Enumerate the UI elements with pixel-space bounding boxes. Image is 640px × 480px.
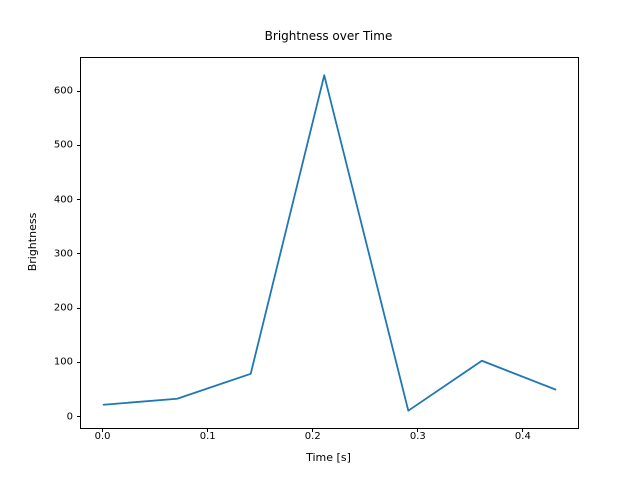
y-tick-mark: [77, 145, 81, 146]
y-tick-label: 0: [40, 411, 73, 422]
plot-axes-frame: [80, 57, 579, 429]
line-series-brightness: [104, 75, 556, 410]
x-tick-label: 0.3: [410, 431, 426, 442]
y-tick-label: 600: [40, 86, 73, 97]
y-tick-label: 500: [40, 140, 73, 151]
chart-title: Brightness over Time: [80, 29, 577, 43]
y-tick-label: 200: [40, 303, 73, 314]
y-tick-mark: [77, 308, 81, 309]
x-tick-label: 0.2: [305, 431, 321, 442]
y-tick-mark: [77, 199, 81, 200]
x-tick-label: 0.1: [200, 431, 216, 442]
y-tick-mark: [77, 416, 81, 417]
y-axis-label: Brightness: [26, 57, 40, 427]
x-axis-label: Time [s]: [80, 451, 577, 464]
x-tick-label: 0.4: [515, 431, 531, 442]
x-tick-label: 0.0: [95, 431, 111, 442]
y-tick-mark: [77, 362, 81, 363]
y-tick-label: 300: [40, 248, 73, 259]
y-tick-mark: [77, 91, 81, 92]
chart-figure: Brightness over Time 0.00.10.20.30.4 010…: [0, 0, 640, 480]
y-tick-mark: [77, 253, 81, 254]
y-tick-label: 400: [40, 194, 73, 205]
y-tick-label: 100: [40, 357, 73, 368]
plot-area: [81, 58, 578, 428]
line-series-svg: [81, 58, 578, 428]
